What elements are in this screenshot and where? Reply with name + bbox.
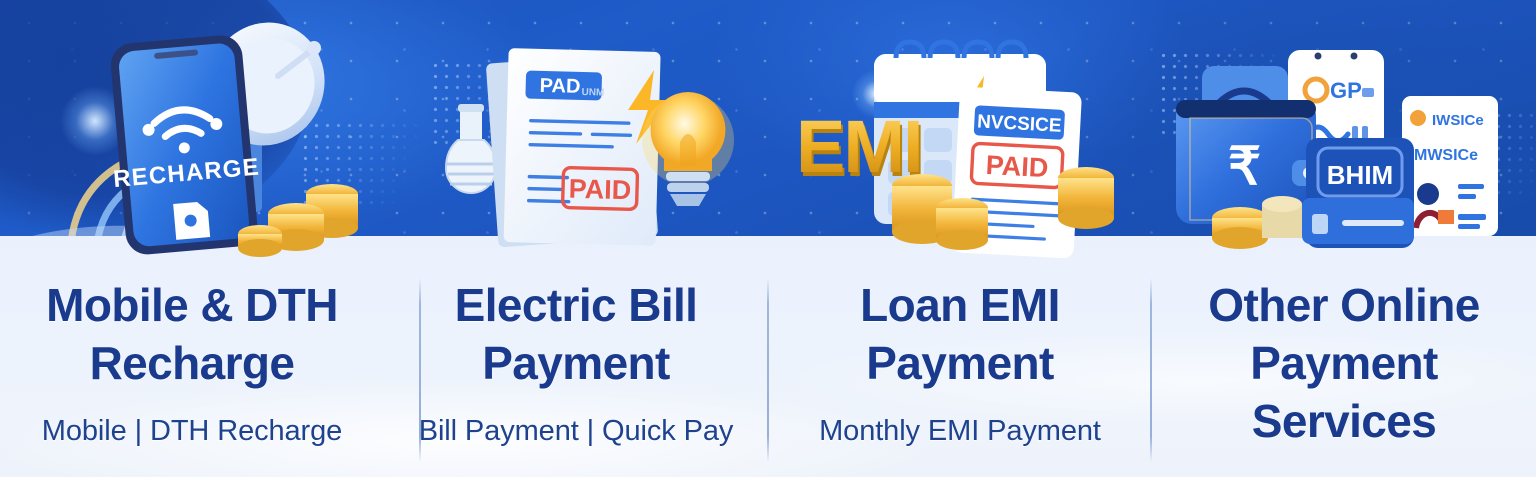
card-title: Loan EMI Payment [768, 276, 1152, 392]
card-title: Mobile & DTH Recharge [0, 276, 384, 392]
card-title-line: Mobile & DTH [0, 276, 384, 334]
card-title-line: Payment [384, 334, 768, 392]
card-text-block: Loan EMI Payment Monthly EMI Payment [768, 276, 1152, 448]
card-subtitle: Monthly EMI Payment [768, 414, 1152, 448]
card-title-line: Loan EMI [768, 276, 1152, 334]
card-subtitle: Mobile | DTH Recharge [0, 414, 384, 448]
payment-services-banner: RECHARGE [0, 0, 1536, 477]
service-card-other-online-payment-services[interactable]: Other Online Payment Services Wallet | U… [1152, 0, 1536, 477]
card-title-line: Recharge [0, 334, 384, 392]
card-title-line: Electric Bill [384, 276, 768, 334]
card-title: Electric Bill Payment [384, 276, 768, 392]
card-title-line: Payment [768, 334, 1152, 392]
card-text-block: Other Online Payment Services Wallet | U… [1152, 276, 1536, 477]
card-subtitle: Wallet | UPI | Bills & Fees [1152, 472, 1536, 477]
card-title-line: Other Online [1152, 276, 1536, 334]
card-subtitle: Bill Payment | Quick Pay [384, 414, 768, 448]
card-text-block: Electric Bill Payment Bill Payment | Qui… [384, 276, 768, 448]
card-text-block: Mobile & DTH Recharge Mobile | DTH Recha… [0, 276, 384, 448]
card-title: Other Online Payment Services [1152, 276, 1536, 450]
service-card-loan-emi-payment[interactable]: Loan EMI Payment Monthly EMI Payment [768, 0, 1152, 477]
card-title-line: Payment Services [1152, 334, 1536, 450]
service-cards-row: Mobile & DTH Recharge Mobile | DTH Recha… [0, 0, 1536, 477]
service-card-mobile-dth-recharge[interactable]: Mobile & DTH Recharge Mobile | DTH Recha… [0, 0, 384, 477]
service-card-electric-bill-payment[interactable]: Electric Bill Payment Bill Payment | Qui… [384, 0, 768, 477]
